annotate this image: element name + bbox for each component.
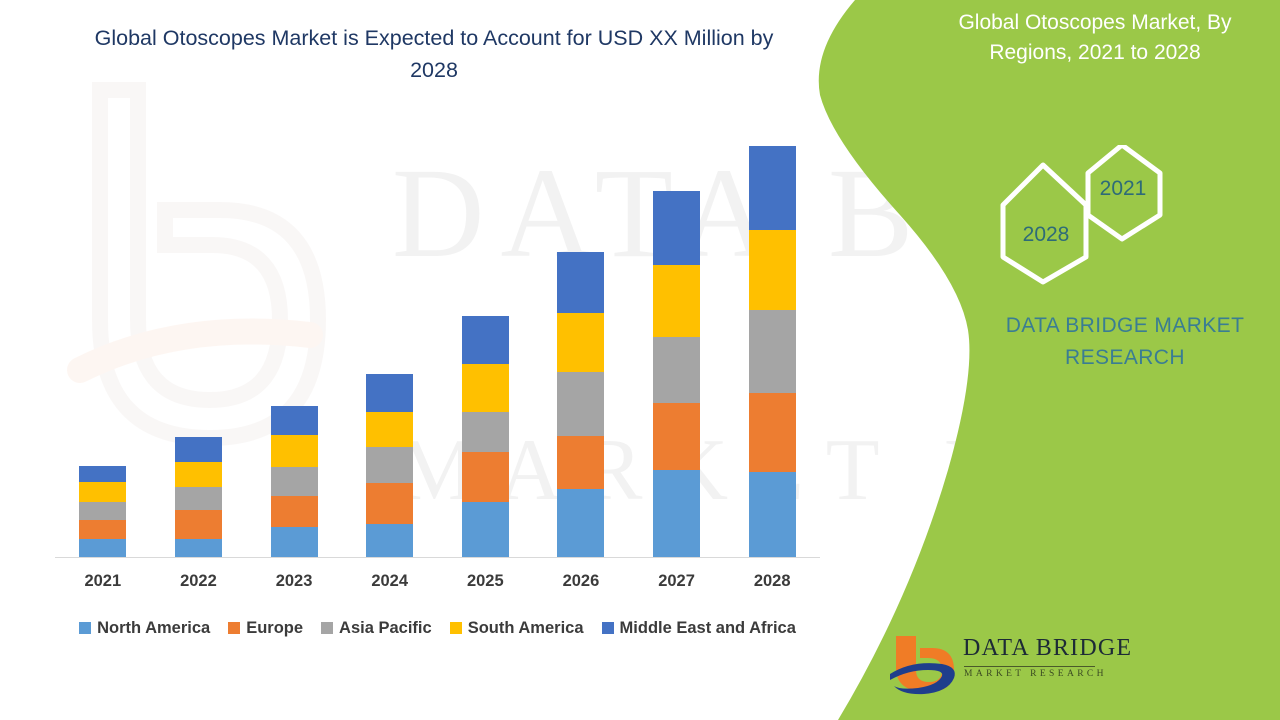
legend-label: Europe — [246, 619, 303, 638]
x-axis-line — [55, 557, 820, 558]
legend-swatch-icon — [450, 622, 462, 634]
databridge-b-logo-icon — [888, 630, 960, 698]
bar-segment — [271, 496, 318, 527]
bar-segment — [79, 502, 126, 520]
x-axis-labels: 20212022202320242025202620272028 — [55, 572, 820, 598]
bar-segment — [462, 316, 509, 364]
bar-segment — [462, 412, 509, 452]
bar-segment — [653, 265, 700, 337]
bar-segment — [462, 502, 509, 557]
bar-segment — [557, 372, 604, 436]
legend-swatch-icon — [602, 622, 614, 634]
bar-segment — [366, 374, 413, 412]
bar-segment — [79, 466, 126, 482]
x-axis-label-2023: 2023 — [256, 572, 332, 591]
legend-item[interactable]: North America — [79, 619, 210, 638]
bar-segment — [366, 524, 413, 557]
bar-2021 — [79, 466, 126, 557]
bar-segment — [653, 403, 700, 470]
brand-name: DATA BRIDGE MARKET RESEARCH — [980, 310, 1270, 374]
bar-segment — [366, 483, 413, 523]
bar-segment — [79, 520, 126, 538]
bar-segment — [175, 437, 222, 461]
x-axis-label-2025: 2025 — [447, 572, 523, 591]
hexagon-group: 2021 2028 — [990, 145, 1190, 290]
bar-segment — [557, 436, 604, 489]
bar-segment — [79, 539, 126, 557]
bar-segment — [653, 191, 700, 265]
legend-swatch-icon — [321, 622, 333, 634]
logo-name-text: DATA BRIDGE — [963, 635, 1132, 662]
bar-segment — [462, 452, 509, 501]
legend-item[interactable]: Asia Pacific — [321, 619, 432, 638]
x-axis-label-2027: 2027 — [639, 572, 715, 591]
bar-segment — [557, 313, 604, 372]
bar-segment — [175, 462, 222, 487]
legend-label: South America — [468, 619, 584, 638]
bar-segment — [653, 337, 700, 403]
bar-segment — [557, 489, 604, 557]
hexagon-label-end: 2028 — [1008, 223, 1084, 247]
logo-subtitle-text: MARKET RESEARCH — [964, 669, 1107, 679]
panel-title: Global Otoscopes Market, By Regions, 202… — [920, 8, 1270, 68]
company-logo: DATA BRIDGE MARKET RESEARCH — [888, 630, 1103, 702]
infographic-slide: DATA BRIDGE MARKET RESEARCH Global Otosc… — [0, 0, 1280, 720]
bar-segment — [271, 467, 318, 496]
hexagon-label-start: 2021 — [1085, 177, 1161, 201]
legend-swatch-icon — [79, 622, 91, 634]
bar-segment — [175, 510, 222, 539]
legend-swatch-icon — [228, 622, 240, 634]
bar-2026 — [557, 252, 604, 557]
page-title: Global Otoscopes Market is Expected to A… — [78, 22, 790, 86]
bar-2023 — [271, 406, 318, 557]
bar-2027 — [653, 191, 700, 557]
logo-divider — [964, 666, 1095, 667]
bar-segment — [557, 252, 604, 313]
bar-segment — [366, 412, 413, 447]
bar-segment — [175, 487, 222, 510]
bar-2025 — [462, 316, 509, 557]
hexagon-outlines-icon — [990, 145, 1190, 290]
legend-label: Asia Pacific — [339, 619, 432, 638]
bar-segment — [79, 482, 126, 502]
x-axis-label-2026: 2026 — [543, 572, 619, 591]
legend-label: North America — [97, 619, 210, 638]
bar-segment — [653, 470, 700, 557]
bar-segment — [271, 406, 318, 435]
bar-segment — [175, 539, 222, 557]
legend-item[interactable]: Europe — [228, 619, 303, 638]
bar-segment — [462, 364, 509, 412]
bar-2022 — [175, 437, 222, 557]
x-axis-label-2024: 2024 — [352, 572, 428, 591]
bar-segment — [366, 447, 413, 484]
x-axis-label-2022: 2022 — [160, 572, 236, 591]
stacked-bar-chart — [55, 120, 820, 558]
bar-2024 — [366, 374, 413, 557]
legend-item[interactable]: South America — [450, 619, 584, 638]
bar-segment — [271, 435, 318, 467]
x-axis-label-2021: 2021 — [65, 572, 141, 591]
chart-legend: North AmericaEuropeAsia PacificSouth Ame… — [55, 616, 820, 640]
bar-segment — [271, 527, 318, 557]
